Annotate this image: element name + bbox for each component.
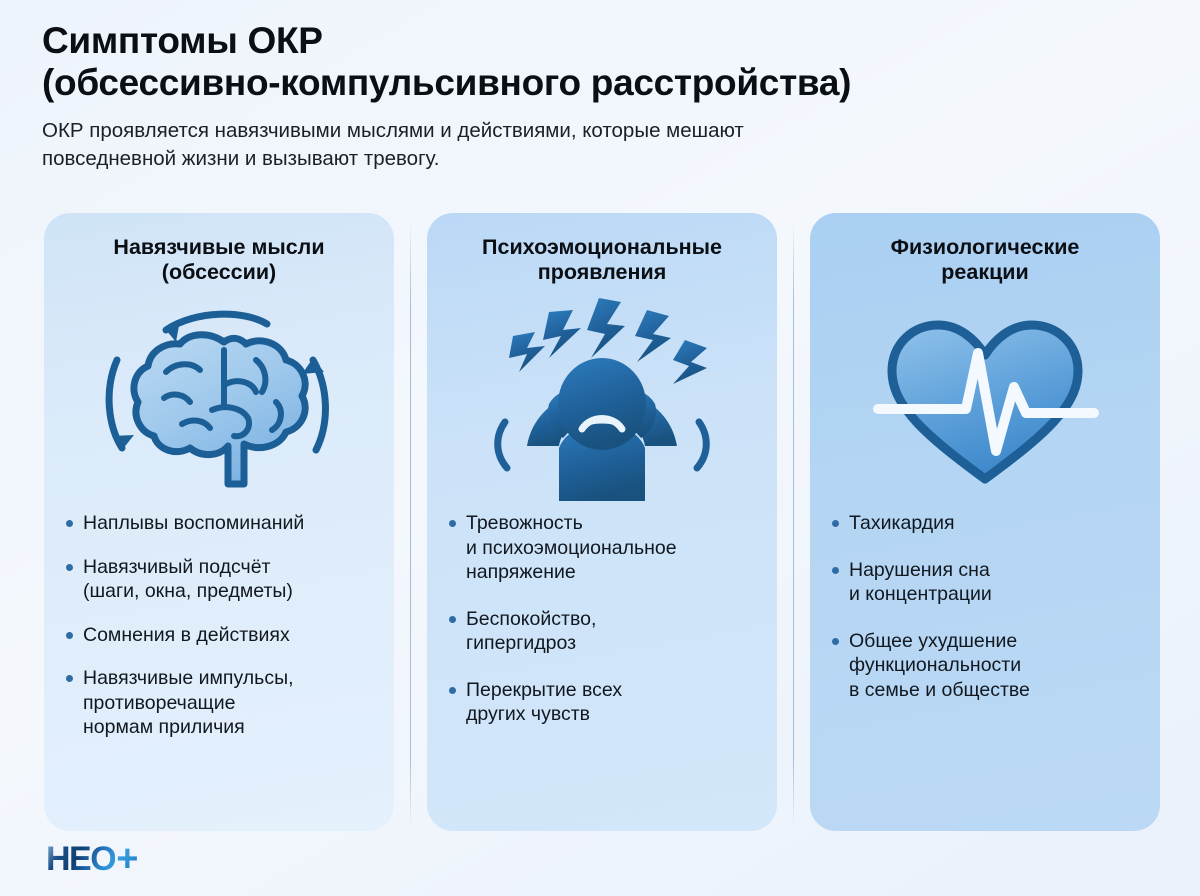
brand-logo: НЕО + (46, 840, 138, 878)
heart-pulse-icon (830, 289, 1140, 507)
card-psychoemotional: Психоэмоциональные проявления (427, 213, 777, 831)
list-item: Сомнения в действиях (64, 623, 374, 648)
card-title: Физиологические реакции (830, 235, 1140, 287)
card-physiological: Физиологические реакции Тахикардия (810, 213, 1160, 831)
card-title: Навязчивые мысли (обсессии) (64, 235, 374, 287)
list-item: Навязчивые импульсы, противоречащие норм… (64, 666, 374, 740)
symptom-list: Тревожность и психоэмоциональное напряже… (447, 511, 757, 749)
card-obsessive-thoughts: Навязчивые мысли (обсессии) (44, 213, 394, 831)
page-title: Симптомы ОКР (обсессивно-компульсивного … (42, 20, 1162, 104)
list-item: Перекрытие всех других чувств (447, 678, 757, 727)
logo-plus-icon: + (116, 840, 138, 878)
infographic-page: Симптомы ОКР (обсессивно-компульсивного … (0, 0, 1200, 896)
symptom-list: Наплывы воспоминаний Навязчивый подсчёт … (64, 511, 374, 759)
symptom-cards-row: Навязчивые мысли (обсессии) (44, 213, 1160, 831)
card-title: Психоэмоциональные проявления (447, 235, 757, 287)
list-item: Наплывы воспоминаний (64, 511, 374, 536)
list-item: Общее ухудшение функциональности в семье… (830, 629, 1140, 703)
list-item: Беспокойство, гипергидроз (447, 607, 757, 656)
brain-cycle-icon (64, 289, 374, 507)
page-subtitle: ОКР проявляется навязчивыми мыслями и де… (42, 117, 1072, 172)
symptom-list: Тахикардия Нарушения сна и концентрации … (830, 511, 1140, 724)
card-divider-1 (410, 219, 411, 829)
list-item: Навязчивый подсчёт (шаги, окна, предметы… (64, 555, 374, 604)
card-divider-2 (793, 219, 794, 829)
stressed-person-icon (447, 289, 757, 507)
header: Симптомы ОКР (обсессивно-компульсивного … (42, 20, 1162, 172)
list-item: Тахикардия (830, 511, 1140, 536)
list-item: Тревожность и психоэмоциональное напряже… (447, 511, 757, 585)
logo-text: НЕО (46, 842, 115, 876)
list-item: Нарушения сна и концентрации (830, 558, 1140, 607)
